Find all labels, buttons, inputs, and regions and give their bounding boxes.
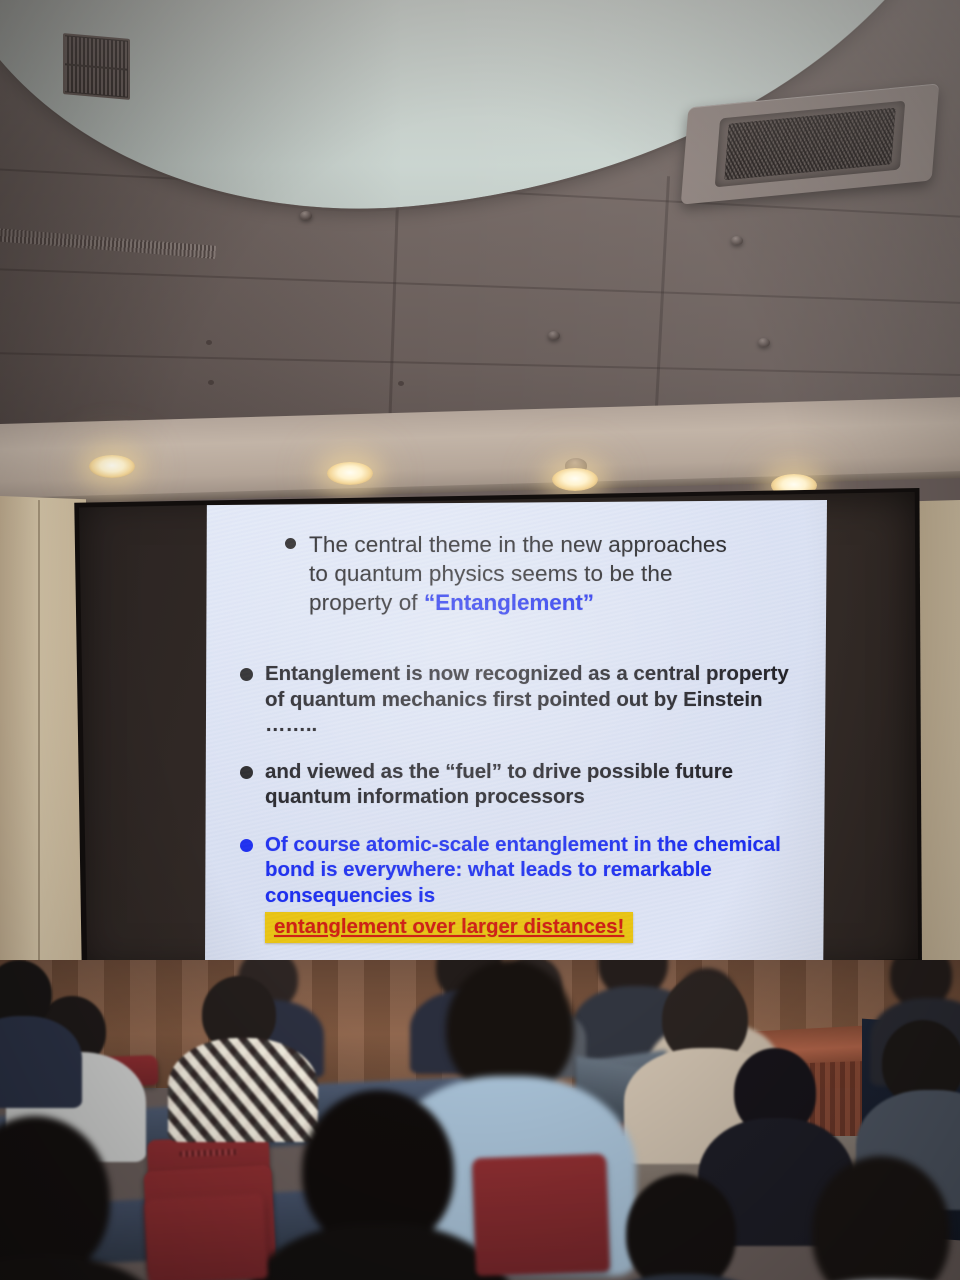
projected-slide: The central theme in the new approaches … — [205, 500, 827, 964]
slide-bullet-central-theme: The central theme in the new approaches … — [285, 530, 807, 617]
recessed-downlight — [327, 462, 373, 485]
auditorium-seat — [144, 1193, 268, 1280]
bullet-dot-icon — [240, 668, 253, 681]
bullet-line: to quantum physics seems to be the — [309, 561, 673, 586]
slide-bullet-entanglement-recognized: Entanglement is now recognized as a cent… — [240, 661, 807, 738]
lecture-hall-photo: The central theme in the new approaches … — [0, 0, 960, 1280]
left-wall-panel — [0, 496, 86, 979]
auditorium-seat — [472, 1154, 610, 1277]
right-wall-panel — [918, 500, 960, 971]
bullet-text: Entanglement is now recognized as a cent… — [265, 661, 807, 738]
bullet-text: Of course atomic-scale entanglement in t… — [265, 832, 807, 943]
slide-bullet-fuel: and viewed as the “fuel” to drive possib… — [240, 759, 807, 810]
recessed-downlight — [552, 468, 598, 491]
audience-area — [0, 960, 960, 1280]
wall-panel-seam — [38, 500, 40, 970]
slide-bullet-chemical-bond: Of course atomic-scale entanglement in t… — [240, 832, 807, 943]
bullet-dot-icon — [285, 538, 296, 549]
bullet-body: Of course atomic-scale entanglement in t… — [265, 833, 781, 907]
ceiling — [0, 0, 960, 470]
bullet-text: The central theme in the new approaches … — [309, 530, 807, 617]
emphasis-entanglement: “Entanglement” — [424, 590, 594, 615]
bullet-line: The central theme in the new approaches — [309, 532, 727, 557]
bullet-text: and viewed as the “fuel” to drive possib… — [265, 759, 807, 810]
bullet-line: property of — [309, 590, 424, 615]
bullet-dot-icon — [240, 839, 253, 852]
highlighted-conclusion: entanglement over larger distances! — [265, 912, 633, 943]
bullet-dot-icon — [240, 766, 253, 779]
recessed-downlight — [89, 455, 135, 478]
